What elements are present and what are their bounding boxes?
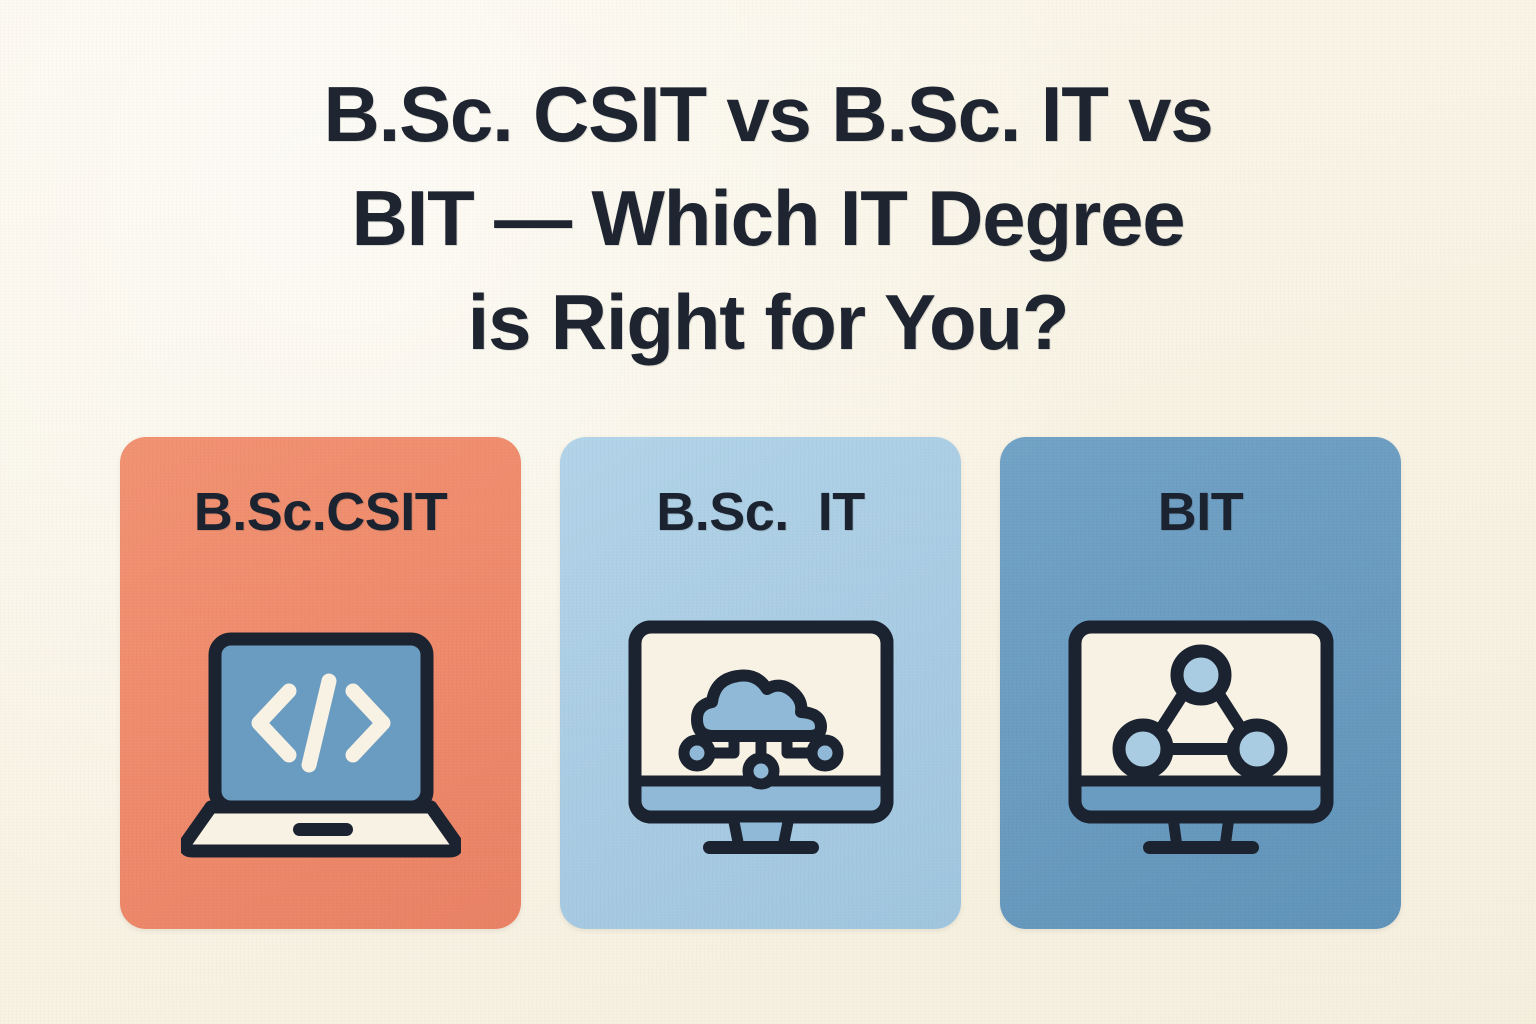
title-line-2: BIT — Which IT Degree bbox=[0, 166, 1536, 270]
card-label-bsc-csit: B.Sc.CSIT bbox=[120, 481, 521, 543]
degree-card-bsc-csit[interactable]: B.Sc.CSIT bbox=[120, 437, 521, 929]
monitor-network-graph-icon bbox=[1061, 613, 1341, 863]
poster-canvas: B.Sc. CSIT vs B.Sc. IT vs BIT — Which IT… bbox=[0, 0, 1536, 1024]
page-title: B.Sc. CSIT vs B.Sc. IT vs BIT — Which IT… bbox=[0, 62, 1536, 374]
laptop-code-icon bbox=[181, 613, 461, 863]
title-line-1: B.Sc. CSIT vs B.Sc. IT vs bbox=[0, 62, 1536, 166]
monitor-cloud-network-icon bbox=[621, 613, 901, 863]
degree-card-bsc-it[interactable]: B.Sc. IT bbox=[560, 437, 961, 929]
degree-card-row: B.Sc.CSIT bbox=[120, 437, 1401, 929]
card-label-bit: BIT bbox=[1000, 481, 1401, 543]
degree-card-bit[interactable]: BIT bbox=[1000, 437, 1401, 929]
title-line-3: is Right for You? bbox=[0, 270, 1536, 374]
card-label-bsc-it: B.Sc. IT bbox=[560, 481, 961, 543]
